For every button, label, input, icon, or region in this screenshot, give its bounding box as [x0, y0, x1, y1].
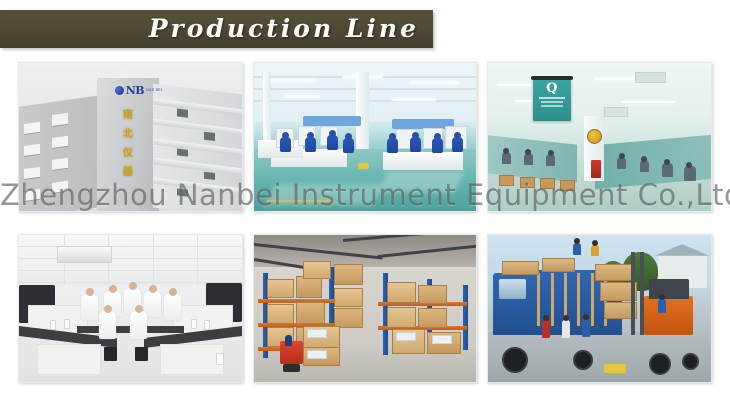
left-wing — [19, 95, 104, 210]
logo-mark-icon — [115, 86, 124, 95]
photo-factory-building[interactable]: NB NAN BEI 南 北 仪 器 — [18, 62, 243, 212]
scene-shipping-loading — [488, 235, 711, 383]
logo-subtext: NAN BEI — [146, 88, 162, 92]
forklift-operator — [285, 335, 292, 346]
pallet-jack — [604, 364, 626, 373]
nb-company-logo: NB NAN BEI — [115, 81, 217, 100]
sign-char-1: 南 — [121, 106, 134, 121]
sign-char-4: 器 — [121, 163, 134, 178]
cab-window — [499, 279, 526, 300]
quality-banner: Q — [533, 79, 571, 120]
lab-staff-seated — [99, 311, 116, 339]
lab-staff-seated — [130, 311, 147, 339]
worker-on-truck — [591, 245, 599, 256]
forklift-body — [644, 296, 693, 334]
banner-rod — [531, 76, 573, 80]
fire-extinguisher — [591, 160, 601, 178]
page-title: Production Line — [149, 14, 419, 43]
lab-staff — [81, 294, 98, 320]
worker — [582, 319, 590, 337]
worker — [562, 320, 570, 338]
lab-staff — [164, 294, 181, 320]
photo-grid: NB NAN BEI 南 北 仪 器 — [18, 62, 712, 383]
scene-production-hall: Q — [488, 63, 711, 211]
ceiling — [19, 235, 242, 285]
photo-laboratory-team[interactable] — [18, 234, 243, 384]
photo-shipping-loading[interactable] — [487, 234, 712, 384]
photo-assembly-workshop[interactable] — [253, 62, 478, 212]
banner-letter: Q — [546, 82, 557, 95]
ceiling-ac-unit — [57, 246, 112, 263]
scene-laboratory-team — [19, 235, 242, 383]
sign-char-2: 北 — [121, 125, 134, 140]
worker-on-truck — [573, 243, 581, 255]
scene-assembly-workshop — [254, 63, 477, 211]
worker — [542, 320, 550, 338]
scene-factory-building: NB NAN BEI 南 北 仪 器 — [19, 63, 242, 211]
right-wing — [153, 83, 242, 211]
photo-production-hall[interactable]: Q — [487, 62, 712, 212]
photo-warehouse-storage[interactable] — [253, 234, 478, 384]
forklift-driver — [658, 299, 666, 313]
forklift-mast — [631, 252, 635, 335]
forklift-canopy — [649, 279, 689, 300]
production-line-page: Production Line — [0, 0, 730, 405]
header-banner: Production Line — [0, 10, 433, 48]
scene-warehouse-storage — [254, 235, 477, 383]
sign-char-3: 仪 — [121, 144, 134, 159]
logo-text: NB — [126, 84, 144, 97]
ceiling — [488, 63, 711, 119]
